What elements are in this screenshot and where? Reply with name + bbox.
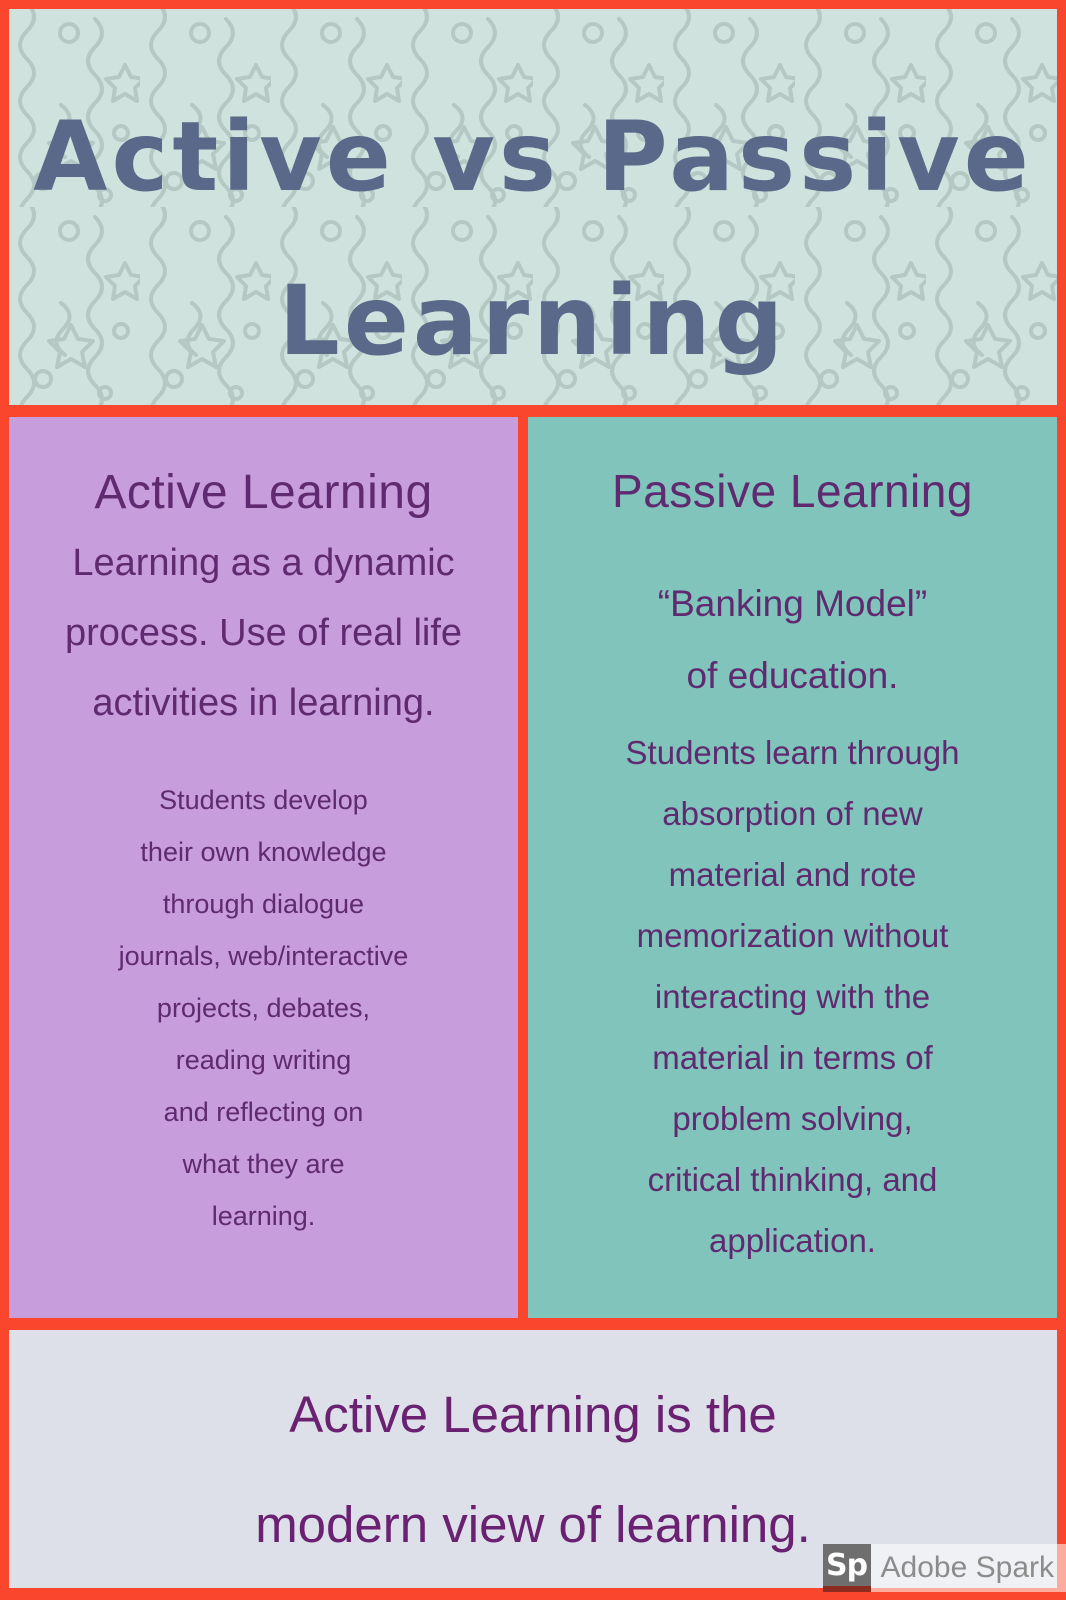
panel-active-learning: Active Learning Learning as a dynamic pr… (9, 417, 518, 1318)
panel-passive-learning: Passive Learning “Banking Model” of educ… (528, 417, 1057, 1318)
header-band: Active vs Passive Learning (9, 9, 1057, 405)
active-learning-heading: Active Learning (9, 464, 518, 522)
adobe-spark-label: Adobe Spark (871, 1544, 1066, 1592)
passive-learning-heading: Passive Learning (528, 462, 1057, 520)
passive-learning-body: Students learn through absorption of new… (528, 722, 1057, 1271)
passive-learning-lead: “Banking Model” of education. (528, 568, 1057, 712)
adobe-spark-watermark: Sp Adobe Spark (823, 1544, 1066, 1592)
active-learning-lead: Learning as a dynamic process. Use of re… (9, 528, 518, 738)
infographic-poster: Active vs Passive Learning Active Learni… (0, 0, 1066, 1600)
active-learning-body: Students develop their own knowledge thr… (9, 774, 518, 1242)
poster-title: Active vs Passive Learning (9, 75, 1057, 403)
adobe-spark-icon: Sp (823, 1544, 871, 1592)
